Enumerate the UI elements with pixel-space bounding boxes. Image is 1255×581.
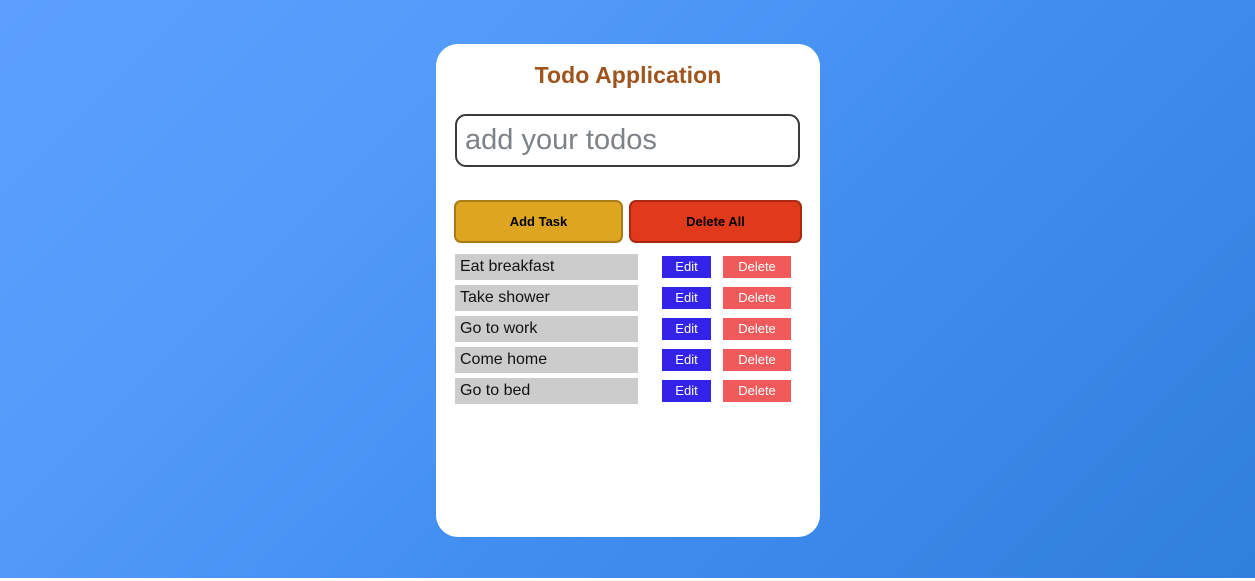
task-delete-button[interactable]: Delete — [723, 256, 791, 278]
task-row: Take showerEditDelete — [436, 285, 820, 311]
task-delete-button[interactable]: Delete — [723, 287, 791, 309]
task-label: Take shower — [455, 285, 638, 311]
task-edit-button[interactable]: Edit — [662, 318, 711, 340]
task-label: Come home — [455, 347, 638, 373]
page-title: Todo Application — [436, 44, 820, 89]
task-delete-button[interactable]: Delete — [723, 380, 791, 402]
todo-card: Todo Application Add Task Delete All Eat… — [436, 44, 820, 537]
page-root: Todo Application Add Task Delete All Eat… — [0, 0, 1255, 581]
add-task-button[interactable]: Add Task — [454, 200, 623, 243]
task-row: Go to bedEditDelete — [436, 378, 820, 404]
todo-input[interactable] — [455, 114, 800, 167]
task-delete-button[interactable]: Delete — [723, 349, 791, 371]
task-edit-button[interactable]: Edit — [662, 287, 711, 309]
task-delete-button[interactable]: Delete — [723, 318, 791, 340]
task-edit-button[interactable]: Edit — [662, 349, 711, 371]
task-row: Come homeEditDelete — [436, 347, 820, 373]
task-row: Go to workEditDelete — [436, 316, 820, 342]
task-edit-button[interactable]: Edit — [662, 380, 711, 402]
task-edit-button[interactable]: Edit — [662, 256, 711, 278]
task-label: Go to work — [455, 316, 638, 342]
delete-all-button[interactable]: Delete All — [629, 200, 802, 243]
task-row: Eat breakfastEditDelete — [436, 254, 820, 280]
task-label: Eat breakfast — [455, 254, 638, 280]
task-label: Go to bed — [455, 378, 638, 404]
task-list: Eat breakfastEditDeleteTake showerEditDe… — [436, 254, 820, 409]
